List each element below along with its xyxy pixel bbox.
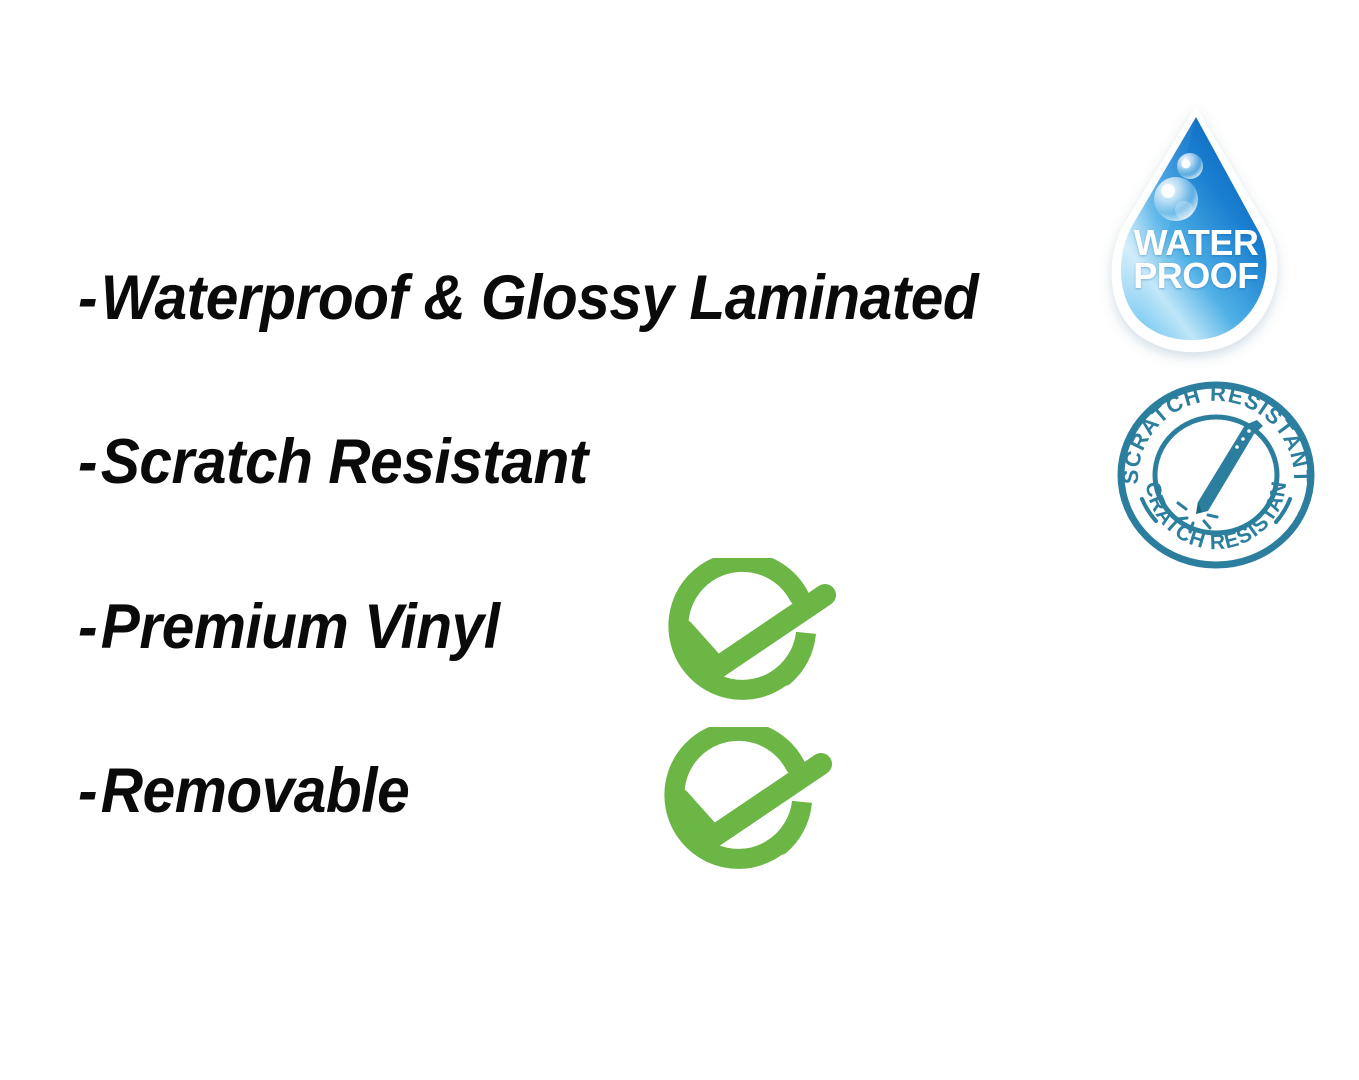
scratch-resistant-stamp: SCRATCH RESISTANT SCRATCH RESISTANT bbox=[1116, 381, 1316, 569]
check-circle-icon bbox=[634, 727, 844, 877]
bullet-dash: - bbox=[78, 760, 97, 823]
bullet-dash: - bbox=[78, 596, 97, 659]
bubble-large-inner bbox=[1175, 201, 1193, 219]
knife-rivet-2 bbox=[1241, 437, 1245, 441]
feature-item-removable: -Removable bbox=[78, 760, 409, 823]
feature-item-waterproof: -Waterproof & Glossy Laminated bbox=[78, 267, 978, 330]
green-check-icon-2 bbox=[634, 727, 844, 877]
feature-list: -Waterproof & Glossy Laminated -Scratch … bbox=[0, 0, 1100, 1080]
knife-rivet-3 bbox=[1235, 445, 1239, 449]
green-check-icon-1 bbox=[638, 558, 848, 708]
impact-mark-4 bbox=[1204, 521, 1210, 528]
waterproof-drop-badge: WATER PROOF bbox=[1098, 104, 1310, 362]
product-feature-graphic: -Waterproof & Glossy Laminated -Scratch … bbox=[0, 0, 1359, 1080]
bullet-dash: - bbox=[78, 431, 97, 494]
feature-item-premium-vinyl: -Premium Vinyl bbox=[78, 596, 500, 659]
bullet-dash: - bbox=[78, 267, 97, 330]
feature-label: Waterproof & Glossy Laminated bbox=[101, 263, 978, 333]
feature-item-scratch-resistant: -Scratch Resistant bbox=[78, 431, 588, 494]
check-circle-icon bbox=[638, 558, 848, 708]
knife-icon bbox=[1178, 420, 1263, 532]
scratch-resistant-icon: SCRATCH RESISTANT SCRATCH RESISTANT bbox=[1116, 381, 1316, 569]
knife-rivet-1 bbox=[1247, 429, 1251, 433]
knife-blade bbox=[1196, 425, 1254, 514]
bubble-small-highlight bbox=[1182, 160, 1191, 169]
feature-label: Removable bbox=[101, 756, 409, 826]
impact-mark-5 bbox=[1208, 515, 1217, 517]
feature-label: Premium Vinyl bbox=[101, 592, 500, 662]
impact-mark-1 bbox=[1178, 503, 1186, 509]
stamp-top-textpath: SCRATCH RESISTANT bbox=[1118, 381, 1314, 485]
bubble-large-highlight bbox=[1161, 184, 1175, 198]
stamp-top-text: SCRATCH RESISTANT bbox=[1118, 381, 1314, 485]
water-drop-icon bbox=[1098, 104, 1310, 362]
impact-mark-2 bbox=[1178, 518, 1187, 519]
feature-label: Scratch Resistant bbox=[101, 427, 588, 497]
